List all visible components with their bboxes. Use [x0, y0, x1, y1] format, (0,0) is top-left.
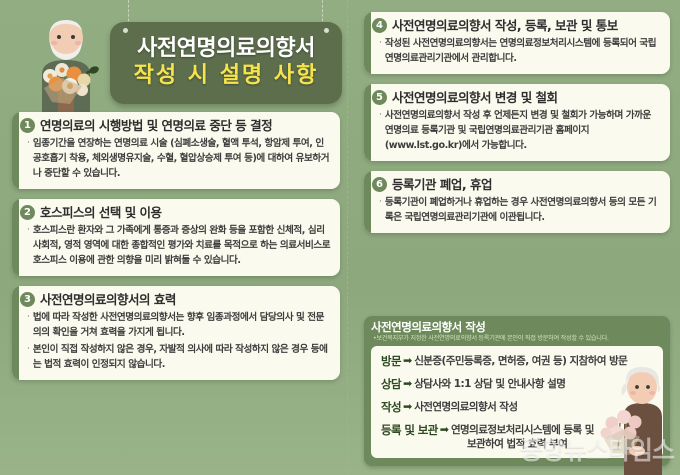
- bullet-dot: ·: [27, 136, 30, 181]
- procedure-label: 작성: [381, 400, 401, 414]
- section-title: 사전연명의료의향서 변경 및 철회: [392, 90, 558, 105]
- section-number-badge: 5: [372, 90, 387, 105]
- procedure-text-line1: 연명의료정보처리시스템에 등록 및: [451, 424, 594, 436]
- section-card-5: 5 사전연명의료의향서 변경 및 철회 · 사전연명의료의향서 작성 후 언제든…: [364, 84, 670, 161]
- arrow-right-icon: ➡: [440, 423, 449, 437]
- section-header: 2 호스피스의 선택 및 이용: [21, 205, 331, 220]
- page-title-line1: 사전연명의료의향서: [137, 37, 315, 61]
- elderly-man-with-flowers-illustration: [14, 14, 118, 118]
- bullet-text: 등록기관이 폐업하거나 휴업하는 경우 사전연명의료의향서 등의 모든 기록은 …: [385, 195, 661, 225]
- bullet-text: 법에 따라 작성한 사전연명의료의향서는 향후 임종과정에서 담당의사 및 전문…: [33, 310, 331, 340]
- section-number-badge: 4: [372, 18, 387, 33]
- section-card-3: 3 사전연명의료의향서의 효력 · 법에 따라 작성한 사전연명의료의향서는 향…: [12, 286, 340, 380]
- arrow-right-icon: ➡: [403, 354, 412, 368]
- bullet-text: 사전연명의료의향서 작성 후 언제든지 변경 및 철회가 가능하며 가까운 연명…: [385, 108, 661, 153]
- bullet-item: · 본인이 직접 작성하지 않은 경우, 자발적 의사에 따라 작성하지 않은 …: [27, 342, 331, 372]
- arrow-right-icon: ➡: [403, 377, 412, 391]
- procedure-label: 등록 및 보관: [381, 423, 438, 437]
- bullet-text: 임종기간을 연장하는 연명의료 시술 (심폐소생술, 혈액 투석, 항암제 투여…: [33, 136, 331, 181]
- section-card-4: 4 사전연명의료의향서 작성, 등록, 보관 및 통보 · 작성된 사전연명의료…: [364, 12, 670, 74]
- procedure-panel-subtitle: •보건복지부가 지정한 사전연명의료의향서 등록기관에 본인이 직접 방문하여 …: [373, 335, 663, 343]
- procedure-text: 연명의료정보처리시스템에 등록 및 보관하여 법적 효력 부여: [451, 423, 594, 451]
- bullet-dot: ·: [27, 223, 30, 268]
- page-title-line2: 작성 시 설명 사항: [134, 63, 319, 88]
- bullet-item: · 임종기간을 연장하는 연명의료 시술 (심폐소생술, 혈액 투석, 항암제 …: [27, 136, 331, 181]
- bullet-text: 본인이 직접 작성하지 않은 경우, 자발적 의사에 따라 작성하지 않은 경우…: [33, 342, 331, 372]
- page-title-plate: 사전연명의료의향서 작성 시 설명 사항: [110, 22, 342, 104]
- section-title: 사전연명의료의향서 작성, 등록, 보관 및 통보: [392, 18, 618, 33]
- section-header: 3 사전연명의료의향서의 효력: [21, 292, 331, 307]
- bullet-dot: ·: [379, 108, 382, 153]
- bullet-item: · 작성된 사전연명의료의향서는 연명의료정보처리시스템에 등록되어 국립연명의…: [379, 36, 661, 66]
- section-title: 호스피스의 선택 및 이용: [40, 205, 162, 220]
- elderly-woman-with-flowers-illustration: [590, 363, 678, 475]
- bullet-dot: ·: [27, 310, 30, 340]
- infographic-page: 사전연명의료의향서 작성 시 설명 사항 1 연명의료의 시행방법 및 연명의료…: [0, 0, 680, 475]
- section-card-2: 2 호스피스의 선택 및 이용 · 호스피스란 환자와 그 가족에게 통증과 증…: [12, 199, 340, 276]
- bullet-dot: ·: [379, 195, 382, 225]
- procedure-text-line2: 보관하여 법적 효력 부여: [451, 437, 594, 451]
- section-title: 연명의료의 시행방법 및 연명의료 중단 등 결정: [40, 118, 272, 133]
- procedure-label: 상담: [381, 377, 401, 391]
- procedure-text: 상담사와 1:1 상담 및 안내사항 설명: [414, 377, 565, 391]
- section-card-6: 6 등록기관 폐업, 휴업 · 등록기관이 폐업하거나 휴업하는 경우 사전연명…: [364, 171, 670, 233]
- section-number-badge: 1: [20, 118, 35, 133]
- section-number-badge: 6: [372, 177, 387, 192]
- bullet-item: · 법에 따라 작성한 사전연명의료의향서는 향후 임종과정에서 담당의사 및 …: [27, 310, 331, 340]
- column-divider: [347, 0, 348, 475]
- bullet-text: 호스피스란 환자와 그 가족에게 통증과 증상의 완화 등을 포함한 신체적, …: [33, 223, 331, 268]
- bullet-text: 작성된 사전연명의료의향서는 연명의료정보처리시스템에 등록되어 국립연명의료관…: [385, 36, 661, 66]
- bullet-item: · 등록기관이 폐업하거나 휴업하는 경우 사전연명의료의향서 등의 모든 기록…: [379, 195, 661, 225]
- section-number-badge: 3: [20, 292, 35, 307]
- section-number-badge: 2: [20, 205, 35, 220]
- arrow-right-icon: ➡: [403, 400, 412, 414]
- section-header: 6 등록기관 폐업, 휴업: [373, 177, 661, 192]
- section-title: 등록기관 폐업, 휴업: [392, 177, 492, 192]
- procedure-label: 방문: [381, 354, 401, 368]
- bullet-item: · 호스피스란 환자와 그 가족에게 통증과 증상의 완화 등을 포함한 신체적…: [27, 223, 331, 268]
- bullet-dot: ·: [379, 36, 382, 66]
- left-column: 1 연명의료의 시행방법 및 연명의료 중단 등 결정 · 임종기간을 연장하는…: [12, 112, 340, 390]
- bullet-item: · 사전연명의료의향서 작성 후 언제든지 변경 및 철회가 가능하며 가까운 …: [379, 108, 661, 153]
- procedure-panel-title: 사전연명의료의향서 작성: [371, 320, 663, 334]
- section-header: 5 사전연명의료의향서 변경 및 철회: [373, 90, 661, 105]
- section-card-1: 1 연명의료의 시행방법 및 연명의료 중단 등 결정 · 임종기간을 연장하는…: [12, 112, 340, 189]
- section-title: 사전연명의료의향서의 효력: [40, 292, 176, 307]
- procedure-text: 사전연명의료의향서 작성: [414, 400, 517, 414]
- section-header: 1 연명의료의 시행방법 및 연명의료 중단 등 결정: [21, 118, 331, 133]
- section-header: 4 사전연명의료의향서 작성, 등록, 보관 및 통보: [373, 18, 661, 33]
- right-column: 4 사전연명의료의향서 작성, 등록, 보관 및 통보 · 작성된 사전연명의료…: [364, 12, 670, 243]
- bullet-dot: ·: [27, 342, 30, 372]
